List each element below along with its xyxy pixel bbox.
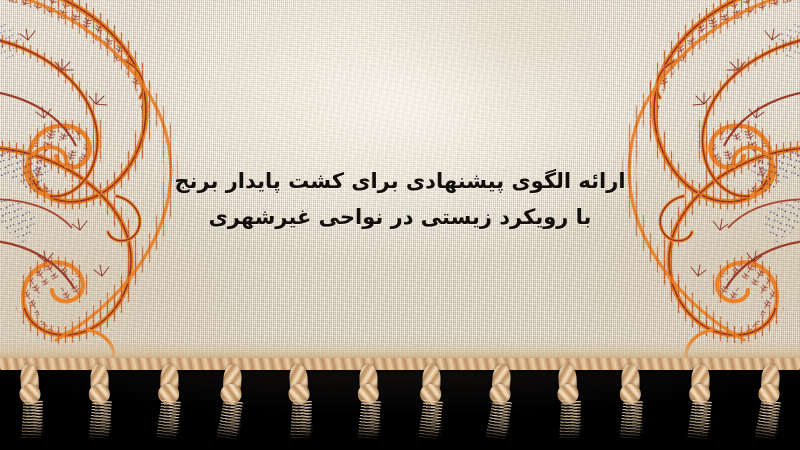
tassel — [285, 361, 316, 442]
tassel — [754, 361, 785, 442]
tassel-fringe-strands-back — [762, 402, 780, 437]
tassel — [554, 361, 585, 442]
tassel — [417, 362, 445, 443]
slide-canvas: ارائه الگوی پیشنهادی برای کشت پایدار برن… — [0, 0, 800, 450]
tassel-fringe-row — [0, 362, 800, 450]
tassel-fringe-strands-back — [626, 402, 643, 436]
tassel — [216, 361, 247, 442]
tassel — [16, 361, 47, 442]
tassel-fringe-strands-back — [295, 401, 313, 436]
tassel — [686, 362, 714, 443]
tassel-fringe-strands-back — [493, 402, 511, 437]
tassel — [155, 362, 183, 443]
tassel-fringe-strands-back — [694, 402, 711, 436]
tassel-fringe-strands-back — [564, 401, 582, 436]
tassel-fringe-strands-back — [224, 402, 242, 437]
tassel-fringe-strands-back — [163, 402, 180, 436]
tassel-fringe-strands-back — [364, 402, 381, 436]
slide-title: ارائه الگوی پیشنهادی برای کشت پایدار برن… — [150, 163, 650, 235]
tassel-fringe-strands-back — [95, 402, 112, 436]
tassel — [355, 362, 383, 443]
tassel-fringe-strands-back — [26, 401, 44, 436]
tassel-fringe-strands-back — [425, 402, 442, 436]
tassel — [485, 361, 516, 442]
title-line-2: با رویکرد زیستی در نواحی غیرشهری — [150, 199, 650, 235]
tassel — [86, 362, 114, 443]
tassel — [617, 362, 645, 443]
title-line-1: ارائه الگوی پیشنهادی برای کشت پایدار برن… — [150, 163, 650, 199]
